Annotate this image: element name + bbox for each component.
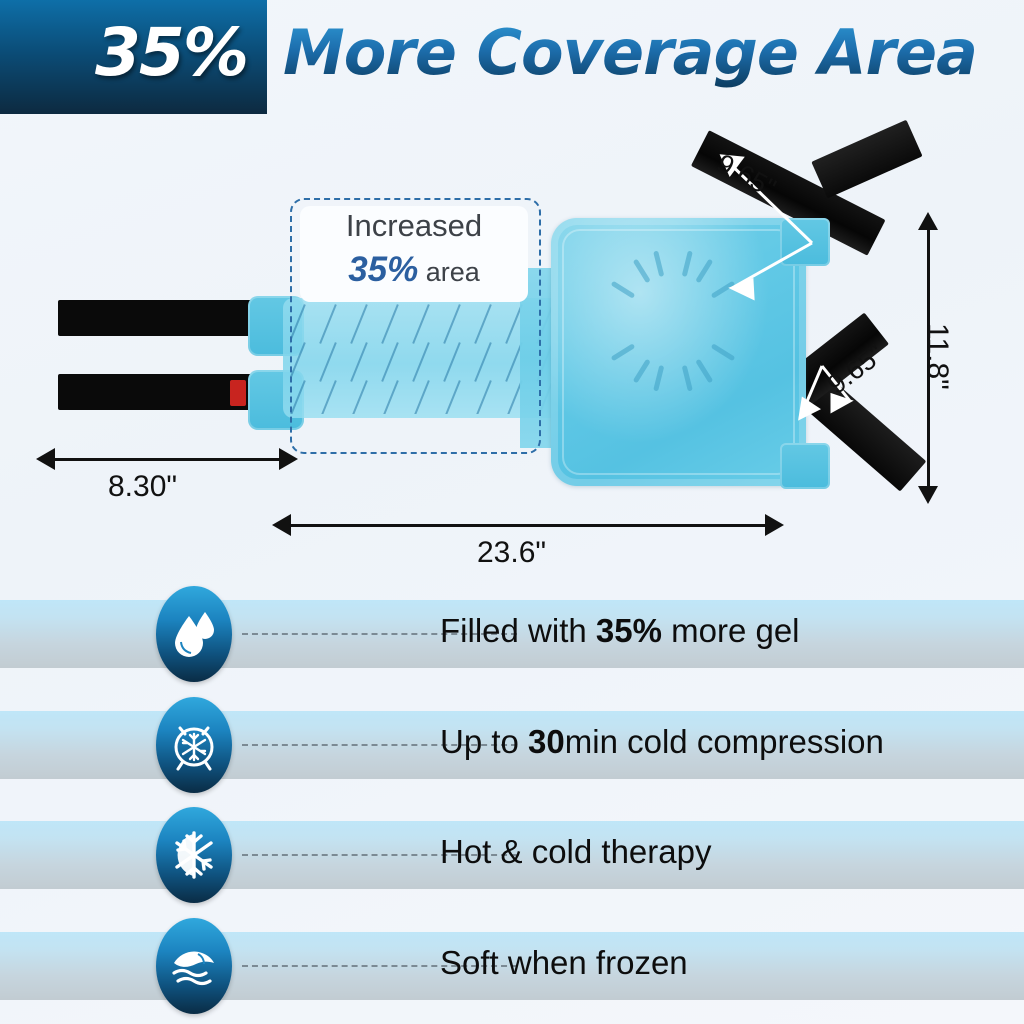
- brand-tag: [230, 380, 246, 406]
- alarm-snowflake-glyph: [169, 718, 219, 772]
- alarm-snowflake-icon: [156, 697, 232, 793]
- feature-2-suffix: min cold compression: [565, 723, 884, 760]
- dim-label-total-width: 23.6": [477, 536, 546, 570]
- feature-1-prefix: Filled with: [440, 612, 596, 649]
- callout-line-percent-area: 35% area: [300, 250, 528, 290]
- strap-bottom-left: [58, 374, 258, 410]
- product-diagram: Increased 35% area 9.65" 9.65": [0, 118, 1024, 578]
- feature-text-3: Hot & cold therapy: [440, 833, 711, 871]
- increased-area-callout: Increased 35% area: [300, 206, 528, 302]
- header-banner: 35% More Coverage Area: [0, 0, 1024, 118]
- soft-wave-glyph: [168, 941, 220, 991]
- hot-cold-icon: [156, 807, 232, 903]
- hot-cold-glyph: [169, 828, 219, 882]
- page-title: More Coverage Area: [283, 16, 977, 89]
- callout-line-increased: Increased: [300, 208, 528, 244]
- dim-label-left-straps: 8.30": [108, 470, 177, 504]
- callout-percent: 35%: [348, 250, 418, 289]
- water-drop-glyph: [171, 608, 217, 660]
- feature-text-4: Soft when frozen: [440, 944, 688, 982]
- soft-wave-icon: [156, 918, 232, 1014]
- feature-list: Filled with 35% more gel: [0, 578, 1024, 1024]
- callout-area-word: area: [418, 257, 480, 287]
- feature-3-prefix: Hot & cold therapy: [440, 833, 711, 870]
- header-percent-text: 35%: [95, 14, 247, 91]
- feature-1-bold: 35%: [596, 612, 662, 649]
- feature-text-2: Up to 30min cold compression: [440, 723, 884, 761]
- dim-label-total-height: 11.8": [920, 323, 954, 390]
- feature-2-prefix: Up to: [440, 723, 528, 760]
- feature-1-suffix: more gel: [662, 612, 800, 649]
- feature-2-bold: 30: [528, 723, 565, 760]
- infographic-canvas: 35% More Coverage Area Increased 35% are…: [0, 0, 1024, 1024]
- strap-top-left: [58, 300, 258, 336]
- feature-4-prefix: Soft when frozen: [440, 944, 688, 981]
- feature-text-1: Filled with 35% more gel: [440, 612, 800, 650]
- water-drop-icon: [156, 586, 232, 682]
